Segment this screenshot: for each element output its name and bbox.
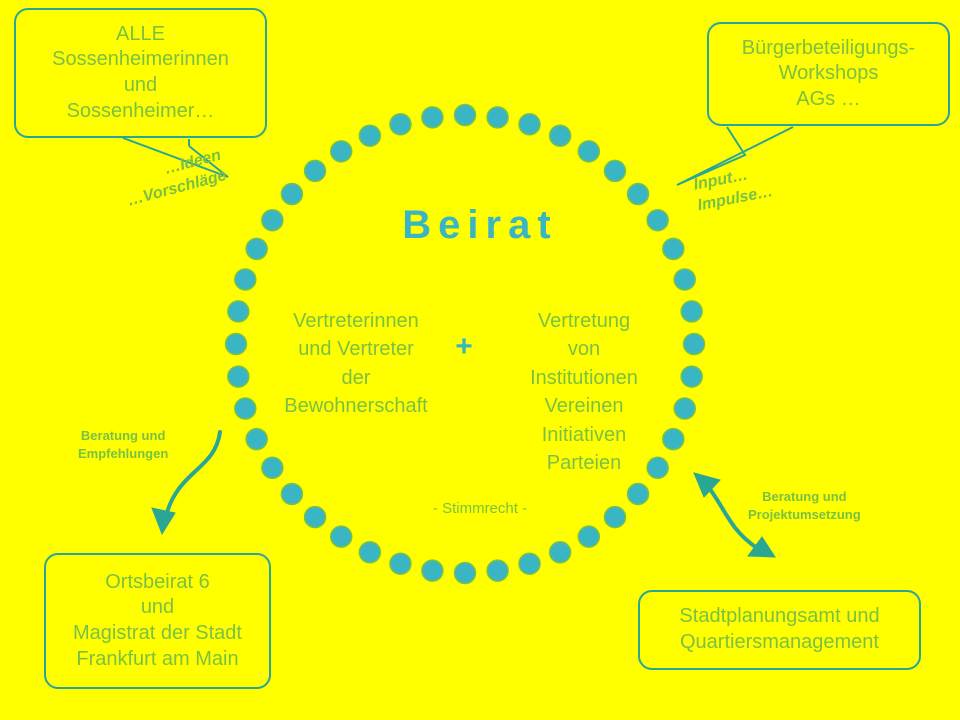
box-ortsbeirat-line-1: Ortsbeirat 6 [46, 570, 269, 596]
arrow-beratung-projektumsetzung-head-down [748, 537, 775, 557]
annotation-beratung-empfehlungen: Beratung und Empfehlungen [78, 427, 168, 462]
box-ortsbeirat-line-3: Magistrat der Stadt [46, 621, 269, 647]
annotation-beratung-empf-line-1: Beratung und [78, 427, 168, 445]
center-right-line-4: Vereinen [486, 392, 682, 420]
ring-dot [226, 334, 247, 355]
box-ortsbeirat: Ortsbeirat 6 und Magistrat der Stadt Fra… [44, 553, 271, 689]
ring-dot [487, 560, 508, 581]
ring-dot [578, 526, 599, 547]
speech-bubble-citizens: ALLE Sossenheimerinnen und Sossenheimer… [14, 8, 267, 138]
ring-dot [422, 560, 443, 581]
center-left-line-1: Vertreterinnen [258, 307, 454, 335]
ring-dot [519, 114, 540, 135]
ring-dot [262, 457, 283, 478]
center-column-institutions: Vertretung von Institutionen Vereinen In… [486, 307, 682, 477]
ring-dot [578, 141, 599, 162]
box-stadtplanung-line-1: Stadtplanungsamt und [640, 604, 919, 630]
bubble-workshops-line-3: AGs … [709, 87, 948, 113]
ring-dot [228, 366, 249, 387]
ring-dot [681, 301, 702, 322]
speech-bubble-workshops: Bürgerbeteiligungs- Workshops AGs … [707, 22, 950, 126]
ring-dot [674, 269, 695, 290]
box-stadtplanungsamt: Stadtplanungsamt und Quartiersmanagement [638, 590, 921, 670]
center-left-line-3: der [258, 364, 454, 392]
ring-dot [359, 542, 380, 563]
center-column-residents: Vertreterinnen und Vertreter der Bewohne… [258, 307, 454, 421]
bubble-citizens-line-4: Sossenheimer… [16, 99, 265, 125]
box-ortsbeirat-line-2: und [46, 595, 269, 621]
ring-dot [628, 184, 649, 205]
ring-dot [331, 526, 352, 547]
ring-dot [390, 114, 411, 135]
ring-dot [422, 107, 443, 128]
bubble-citizens-line-1: ALLE [16, 22, 265, 48]
arrow-beratung-projektumsetzung-head-up [694, 473, 720, 497]
ring-dot [235, 398, 256, 419]
ring-dot [359, 125, 380, 146]
ring-dot [305, 160, 326, 181]
bubble-workshops-line-2: Workshops [709, 61, 948, 87]
ring-dot [681, 366, 702, 387]
annotation-beratung-proj-line-2: Projektumsetzung [748, 506, 861, 524]
ring-dot [235, 269, 256, 290]
center-right-line-2: von [486, 335, 682, 363]
center-right-line-1: Vertretung [486, 307, 682, 335]
ring-dot [281, 184, 302, 205]
ring-dot [455, 105, 476, 126]
center-right-line-5: Initiativen [486, 421, 682, 449]
ring-dot [246, 429, 267, 450]
bubble-workshops-line-1: Bürgerbeteiligungs- [709, 36, 948, 62]
annotation-beratung-projektumsetzung: Beratung und Projektumsetzung [748, 488, 861, 523]
bubble-citizens-line-3: und [16, 73, 265, 99]
diagram-canvas: ALLE Sossenheimerinnen und Sossenheimer…… [0, 0, 960, 720]
ring-dot [604, 160, 625, 181]
page-title: Beirat [0, 203, 960, 248]
annotation-beratung-proj-line-1: Beratung und [748, 488, 861, 506]
center-left-line-4: Bewohnerschaft [258, 392, 454, 420]
ring-dot [228, 301, 249, 322]
box-ortsbeirat-line-4: Frankfurt am Main [46, 647, 269, 673]
annotation-beratung-empf-line-2: Empfehlungen [78, 445, 168, 463]
ring-dot [550, 125, 571, 146]
box-stadtplanung-line-2: Quartiersmanagement [640, 630, 919, 656]
ring-dot [331, 141, 352, 162]
ring-dot [390, 553, 411, 574]
center-right-line-6: Parteien [486, 449, 682, 477]
center-left-line-2: und Vertreter [258, 335, 454, 363]
ring-dot [487, 107, 508, 128]
center-right-line-3: Institutionen [486, 364, 682, 392]
ring-dot [455, 563, 476, 584]
plus-icon: + [447, 330, 481, 364]
ring-dot [550, 542, 571, 563]
bubble-citizens-line-2: Sossenheimerinnen [16, 47, 265, 73]
ring-dot [519, 553, 540, 574]
ring-dot [684, 334, 705, 355]
